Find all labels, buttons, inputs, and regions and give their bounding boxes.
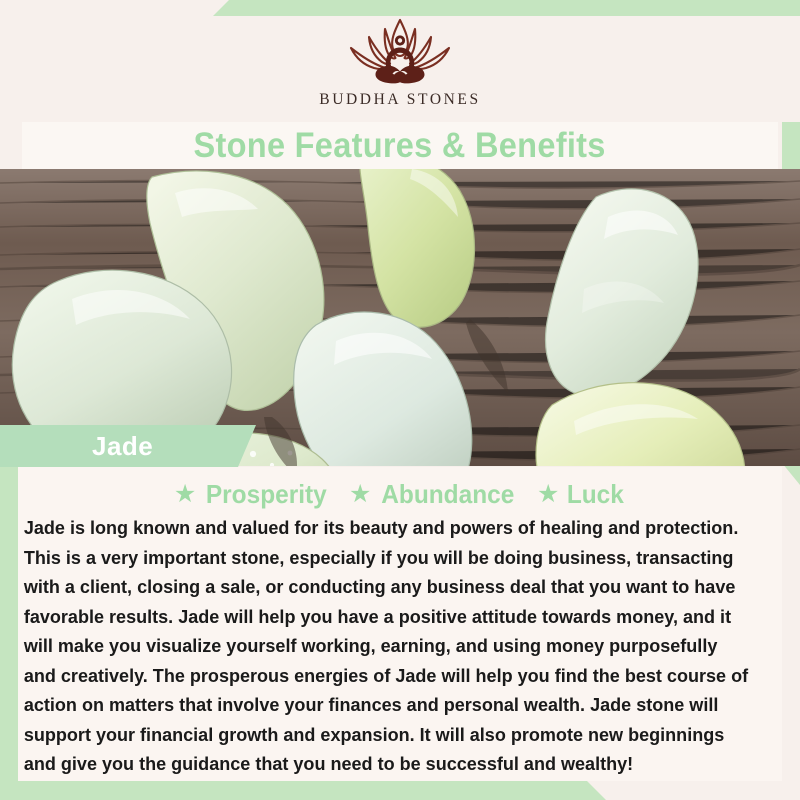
content-panel: ★ Prosperity ★ Abundance ★ Luck Jade is … [18,467,782,781]
star-icon: ★ [537,482,559,507]
stone-description: Jade is long known and valued for its be… [18,513,759,779]
brand-header: BUDDHA STONES [0,16,800,122]
benefit-item-prosperity: ★ Prosperity [174,479,331,510]
stone-name-banner: Jade [0,425,256,467]
stone-name: Jade [92,431,153,462]
stone-photo [0,169,800,466]
star-icon: ★ [349,482,371,507]
benefit-item-abundance: ★ Abundance [349,479,519,510]
title-band: Stone Features & Benefits [22,122,778,169]
star-icon: ★ [174,482,196,507]
page-title: Stone Features & Benefits [194,126,606,166]
brand-name: BUDDHA STONES [319,91,480,109]
benefit-label: Luck [567,479,624,510]
stone-info-poster: BUDDHA STONES Stone Features & Benefits [0,0,800,800]
benefit-label: Prosperity [206,479,327,510]
green-bottom-accent-bar [0,781,606,800]
green-top-accent-bar [212,0,800,17]
benefits-list: ★ Prosperity ★ Abundance ★ Luck [18,467,782,510]
green-right-accent-taper [782,463,800,485]
benefit-item-luck: ★ Luck [537,479,626,510]
benefit-label: Abundance [382,479,515,510]
lotus-meditation-icon [334,16,466,88]
